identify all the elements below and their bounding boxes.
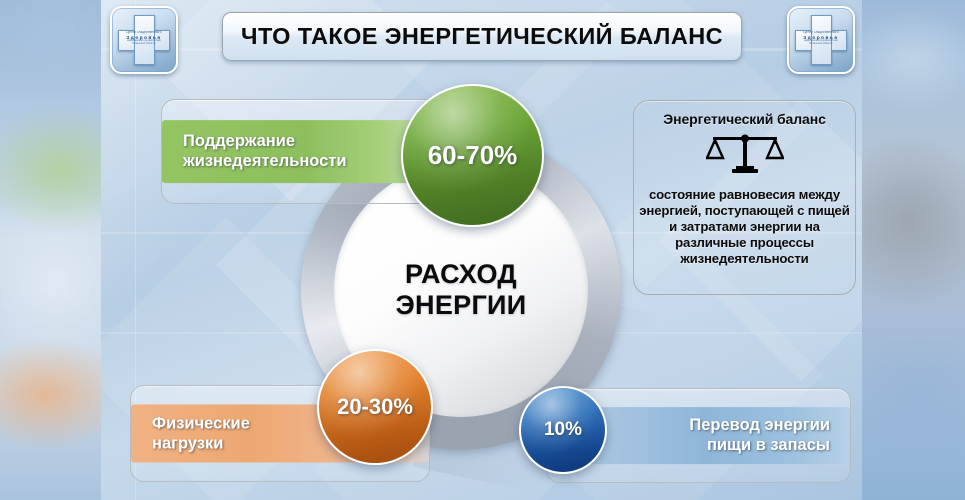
percent-bubble-energy-storage[interactable]: 10% <box>519 386 607 474</box>
letterbox-blur-right <box>862 0 965 500</box>
percent-value: 60-70% <box>428 140 518 171</box>
logo-line-4: Рязанской области <box>797 43 845 46</box>
percent-bubble-maintenance[interactable]: 60-70% <box>401 84 544 227</box>
plaque-text: Физические нагрузки <box>131 413 250 453</box>
medical-cross-icon: Центр Общественного Здоровья медицинской… <box>795 15 847 65</box>
balance-scales-icon <box>706 131 784 182</box>
plaque-line-1: Поддержание <box>183 131 347 151</box>
logo-line-4: Рязанской области <box>120 43 168 46</box>
letterbox-blur-left <box>0 0 101 500</box>
plaque-line-2: пищи в запасы <box>689 436 830 456</box>
slide-stage: Поддержание жизнедеятельности Физические… <box>0 0 965 500</box>
info-box-heading: Энергетический баланс <box>663 111 826 127</box>
plaque-line-1: Перевод энергии <box>689 415 830 435</box>
logo-right: Центр Общественного Здоровья медицинской… <box>787 6 855 74</box>
plaque-text: Перевод энергии пищи в запасы <box>689 415 850 455</box>
plaque-line-2: нагрузки <box>152 433 250 453</box>
logo-text: Центр Общественного Здоровья медицинской… <box>797 31 845 50</box>
medical-cross-icon: Центр Общественного Здоровья медицинской… <box>118 15 170 65</box>
slide-content: Поддержание жизнедеятельности Физические… <box>101 0 862 500</box>
info-box-body: состояние равновесия между энергией, пос… <box>634 187 855 267</box>
logo-text: Центр Общественного Здоровья медицинской… <box>120 31 168 50</box>
energy-balance-info-box: Энергетический баланс состояние равновес… <box>633 100 856 295</box>
plaque-line-2: жизнедеятельности <box>183 151 347 171</box>
slide-title-box: ЧТО ТАКОЕ ЭНЕРГЕТИЧЕСКИЙ БАЛАНС <box>222 12 742 61</box>
percent-bubble-physical-activity[interactable]: 20-30% <box>317 349 433 465</box>
page-title: ЧТО ТАКОЕ ЭНЕРГЕТИЧЕСКИЙ БАЛАНС <box>241 23 723 50</box>
logo-left: Центр Общественного Здоровья медицинской… <box>110 6 178 74</box>
plaque-line-1: Физические <box>152 413 250 433</box>
plaque-text: Поддержание жизнедеятельности <box>162 131 347 171</box>
percent-value: 20-30% <box>337 394 413 420</box>
percent-value: 10% <box>544 419 582 441</box>
